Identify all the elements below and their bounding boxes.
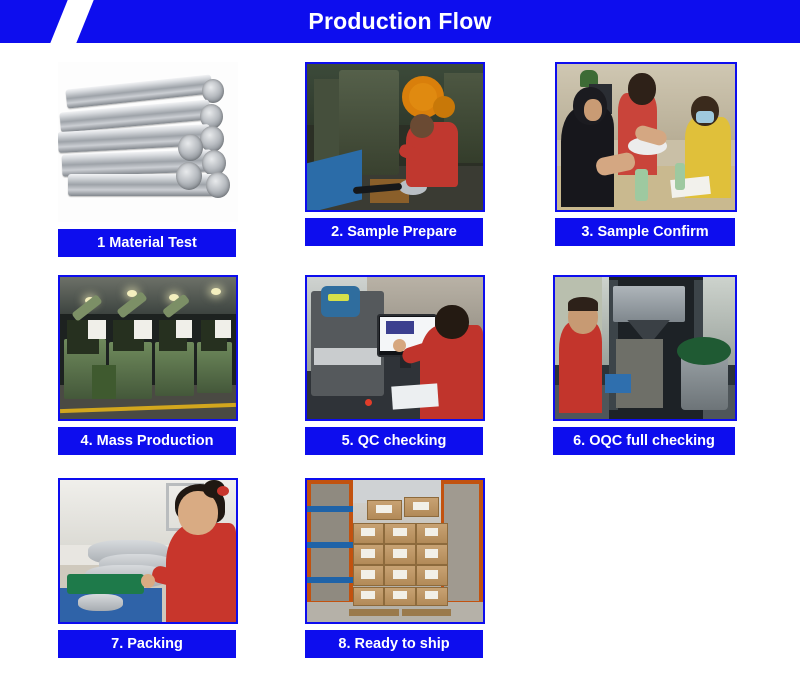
page-header: Production Flow [0,0,800,43]
step-card-6[interactable]: 6. OQC full checking [553,275,737,475]
step-image-2 [305,62,485,212]
step-caption-2: 2. Sample Prepare [305,218,483,246]
step-caption-4: 4. Mass Production [58,427,236,455]
step-image-8 [305,478,485,624]
sample-confirm-illustration [557,64,735,210]
step-card-7[interactable]: 7. Packing [58,478,238,678]
steel-bars-illustration [58,62,238,222]
production-flow-grid: 1 Material Test 2. Sample Prepare [0,43,800,690]
sample-prepare-illustration [307,64,483,210]
oqc-checking-illustration [555,277,735,419]
step-card-5[interactable]: 5. QC checking [305,275,485,475]
step-image-1 [58,62,238,222]
step-card-4[interactable]: 4. Mass Production [58,275,238,475]
step-card-8[interactable]: 8. Ready to ship [305,478,485,678]
step-caption-7: 7. Packing [58,630,236,658]
packing-illustration [60,480,236,622]
mass-production-illustration [60,277,236,419]
step-card-1[interactable]: 1 Material Test [58,62,238,262]
step-card-2[interactable]: 2. Sample Prepare [305,62,485,262]
step-image-7 [58,478,238,624]
step-image-3 [555,62,737,212]
step-caption-3: 3. Sample Confirm [555,218,735,246]
step-card-3[interactable]: 3. Sample Confirm [555,62,737,262]
step-image-6 [553,275,737,421]
step-image-4 [58,275,238,421]
step-caption-1: 1 Material Test [58,229,236,257]
step-caption-6: 6. OQC full checking [553,427,735,455]
page-title: Production Flow [0,0,800,43]
step-caption-8: 8. Ready to ship [305,630,483,658]
step-image-5 [305,275,485,421]
step-caption-5: 5. QC checking [305,427,483,455]
ready-to-ship-illustration [307,480,483,622]
qc-checking-illustration [307,277,483,419]
